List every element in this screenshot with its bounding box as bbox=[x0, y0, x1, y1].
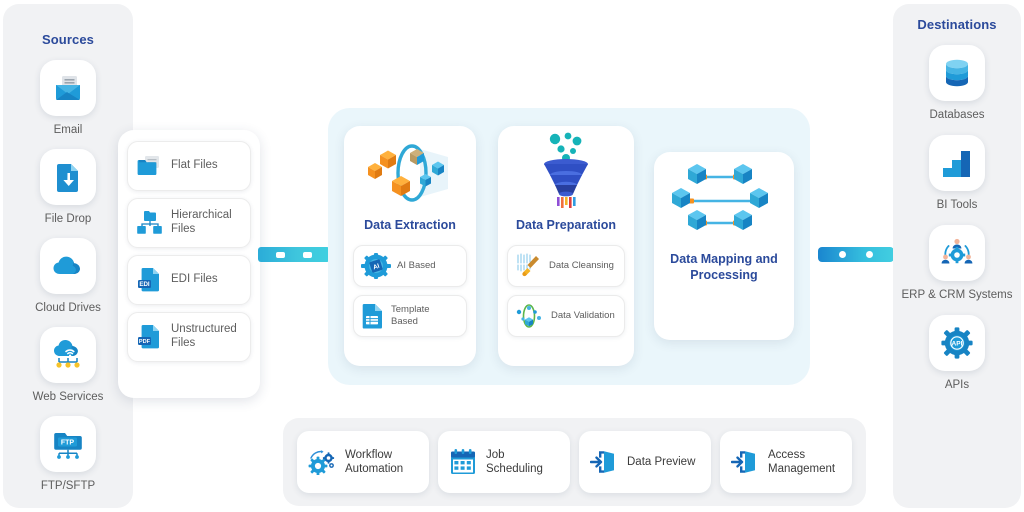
login-arrow-icon bbox=[731, 449, 759, 475]
destination-label: APIs bbox=[945, 378, 969, 392]
file-type-flat-files[interactable]: Flat Files bbox=[127, 141, 251, 191]
process-card-data-mapping[interactable]: Data Mapping and Processing bbox=[654, 152, 794, 340]
sources-panel: Sources bbox=[3, 4, 133, 508]
calendar-icon bbox=[449, 448, 477, 476]
feature-label: Data Preview bbox=[627, 455, 695, 469]
funnel-icon bbox=[498, 126, 634, 218]
process-subitem-list: Data Cleansing bbox=[498, 245, 634, 337]
source-node-file-drop[interactable]: File Drop bbox=[40, 149, 96, 226]
feature-card-job-scheduling[interactable]: Job Scheduling bbox=[438, 431, 570, 493]
hierarchical-files-icon bbox=[137, 210, 163, 236]
ai-chip-icon: AI bbox=[361, 253, 391, 279]
destinations-title: Destinations bbox=[893, 17, 1021, 32]
feature-card-workflow-automation[interactable]: Workflow Automation bbox=[297, 431, 429, 493]
destination-label: Databases bbox=[930, 108, 985, 122]
source-tile[interactable] bbox=[40, 327, 96, 383]
connector-dot bbox=[303, 252, 312, 258]
destination-label: ERP & CRM Systems bbox=[902, 288, 1013, 302]
ftp-sftp-icon: FTP bbox=[51, 428, 85, 460]
source-tile[interactable]: FTP bbox=[40, 416, 96, 472]
file-type-label: EDI Files bbox=[171, 273, 218, 287]
source-node-ftp-sftp[interactable]: FTP FTP/SFTP bbox=[40, 416, 96, 493]
process-card-data-extraction[interactable]: Data Extraction bbox=[344, 126, 476, 366]
feature-card-data-preview[interactable]: Data Preview bbox=[579, 431, 711, 493]
feature-label: Job Scheduling bbox=[486, 448, 559, 476]
source-label: Cloud Drives bbox=[35, 301, 101, 315]
source-node-email[interactable]: Email bbox=[40, 60, 96, 137]
destination-tile[interactable] bbox=[929, 45, 985, 101]
process-card-data-preparation[interactable]: Data Preparation Data Cleansing bbox=[498, 126, 634, 366]
flat-files-icon bbox=[137, 154, 163, 178]
process-subitem-data-cleansing[interactable]: Data Cleansing bbox=[507, 245, 625, 287]
destination-tile[interactable]: API bbox=[929, 315, 985, 371]
feature-label: Workflow Automation bbox=[345, 448, 418, 476]
connector-dot bbox=[866, 251, 873, 258]
flow-connector-right-icon bbox=[818, 247, 894, 262]
unstructured-files-icon: PDF bbox=[137, 324, 163, 350]
sources-list: Email File Drop bbox=[3, 60, 133, 493]
destination-node-apis[interactable]: API APIs bbox=[929, 315, 985, 392]
process-subitem-data-validation[interactable]: Data Validation bbox=[507, 295, 625, 337]
gears-automation-icon bbox=[308, 449, 336, 475]
feature-label: Access Management bbox=[768, 448, 841, 476]
file-type-label: Hierarchical Files bbox=[171, 209, 241, 237]
login-arrow-icon bbox=[590, 449, 618, 475]
svg-text:API: API bbox=[952, 341, 963, 348]
template-document-icon bbox=[361, 303, 385, 329]
file-type-edi-files[interactable]: EDI EDI Files bbox=[127, 255, 251, 305]
destination-tile[interactable] bbox=[929, 225, 985, 281]
process-subitem-label: Template Based bbox=[391, 304, 459, 327]
svg-text:PDF: PDF bbox=[139, 339, 151, 345]
process-card-title: Data Preparation bbox=[498, 218, 634, 234]
destination-node-erp-crm[interactable]: ERP & CRM Systems bbox=[902, 225, 1013, 302]
destinations-list: Databases BI Tools bbox=[893, 45, 1021, 392]
destinations-panel: Destinations Databases bbox=[893, 4, 1021, 508]
source-label: File Drop bbox=[45, 212, 92, 226]
extraction-orbit-icon bbox=[344, 126, 476, 218]
destination-node-bi-tools[interactable]: BI Tools bbox=[929, 135, 985, 212]
svg-text:EDI: EDI bbox=[139, 281, 150, 288]
destination-tile[interactable] bbox=[929, 135, 985, 191]
destination-label: BI Tools bbox=[937, 198, 978, 212]
sources-title: Sources bbox=[3, 32, 133, 47]
file-types-panel: Flat Files Hierarchical Files EDI bbox=[118, 130, 260, 398]
source-label: FTP/SFTP bbox=[41, 479, 95, 493]
process-subitem-label: AI Based bbox=[397, 260, 436, 271]
source-tile[interactable] bbox=[40, 149, 96, 205]
api-gear-icon: API bbox=[941, 327, 973, 359]
file-type-label: Flat Files bbox=[171, 159, 218, 173]
process-subitem-list: AI AI Based Template Based bbox=[344, 245, 476, 337]
web-services-icon bbox=[51, 339, 85, 371]
process-subitem-label: Data Cleansing bbox=[549, 260, 614, 271]
source-node-web-services[interactable]: Web Services bbox=[33, 327, 104, 404]
connector-dot bbox=[276, 252, 285, 258]
email-icon bbox=[52, 72, 84, 104]
file-type-unstructured-files[interactable]: PDF Unstructured Files bbox=[127, 312, 251, 362]
bar-chart-icon bbox=[942, 148, 972, 178]
mapping-nodes-icon bbox=[654, 152, 794, 252]
process-subitem-label: Data Validation bbox=[551, 310, 615, 321]
connector-dot bbox=[839, 251, 846, 258]
flow-connector-left-icon bbox=[258, 247, 330, 262]
file-drop-icon bbox=[53, 161, 83, 193]
source-label: Email bbox=[54, 123, 83, 137]
process-card-title: Data Mapping and Processing bbox=[654, 252, 794, 283]
file-type-label: Unstructured Files bbox=[171, 323, 241, 351]
broom-icon bbox=[515, 253, 543, 279]
process-card-title: Data Extraction bbox=[344, 218, 476, 234]
validation-orbit-icon bbox=[515, 303, 545, 329]
file-type-hierarchical-files[interactable]: Hierarchical Files bbox=[127, 198, 251, 248]
erp-crm-icon bbox=[941, 237, 973, 269]
source-label: Web Services bbox=[33, 390, 104, 404]
source-node-cloud-drives[interactable]: Cloud Drives bbox=[35, 238, 101, 315]
database-icon bbox=[941, 57, 973, 89]
svg-text:FTP: FTP bbox=[61, 440, 75, 447]
cloud-drive-icon bbox=[51, 253, 85, 279]
process-subitem-template-based[interactable]: Template Based bbox=[353, 295, 467, 337]
destination-node-databases[interactable]: Databases bbox=[929, 45, 985, 122]
edi-files-icon: EDI bbox=[137, 267, 163, 293]
features-bar: Workflow Automation bbox=[283, 418, 866, 506]
diagram-canvas: Sources bbox=[0, 0, 1024, 512]
feature-card-access-management[interactable]: Access Management bbox=[720, 431, 852, 493]
process-subitem-ai-based[interactable]: AI AI Based bbox=[353, 245, 467, 287]
processing-container: Data Extraction bbox=[328, 108, 810, 385]
source-tile[interactable] bbox=[40, 60, 96, 116]
source-tile[interactable] bbox=[40, 238, 96, 294]
